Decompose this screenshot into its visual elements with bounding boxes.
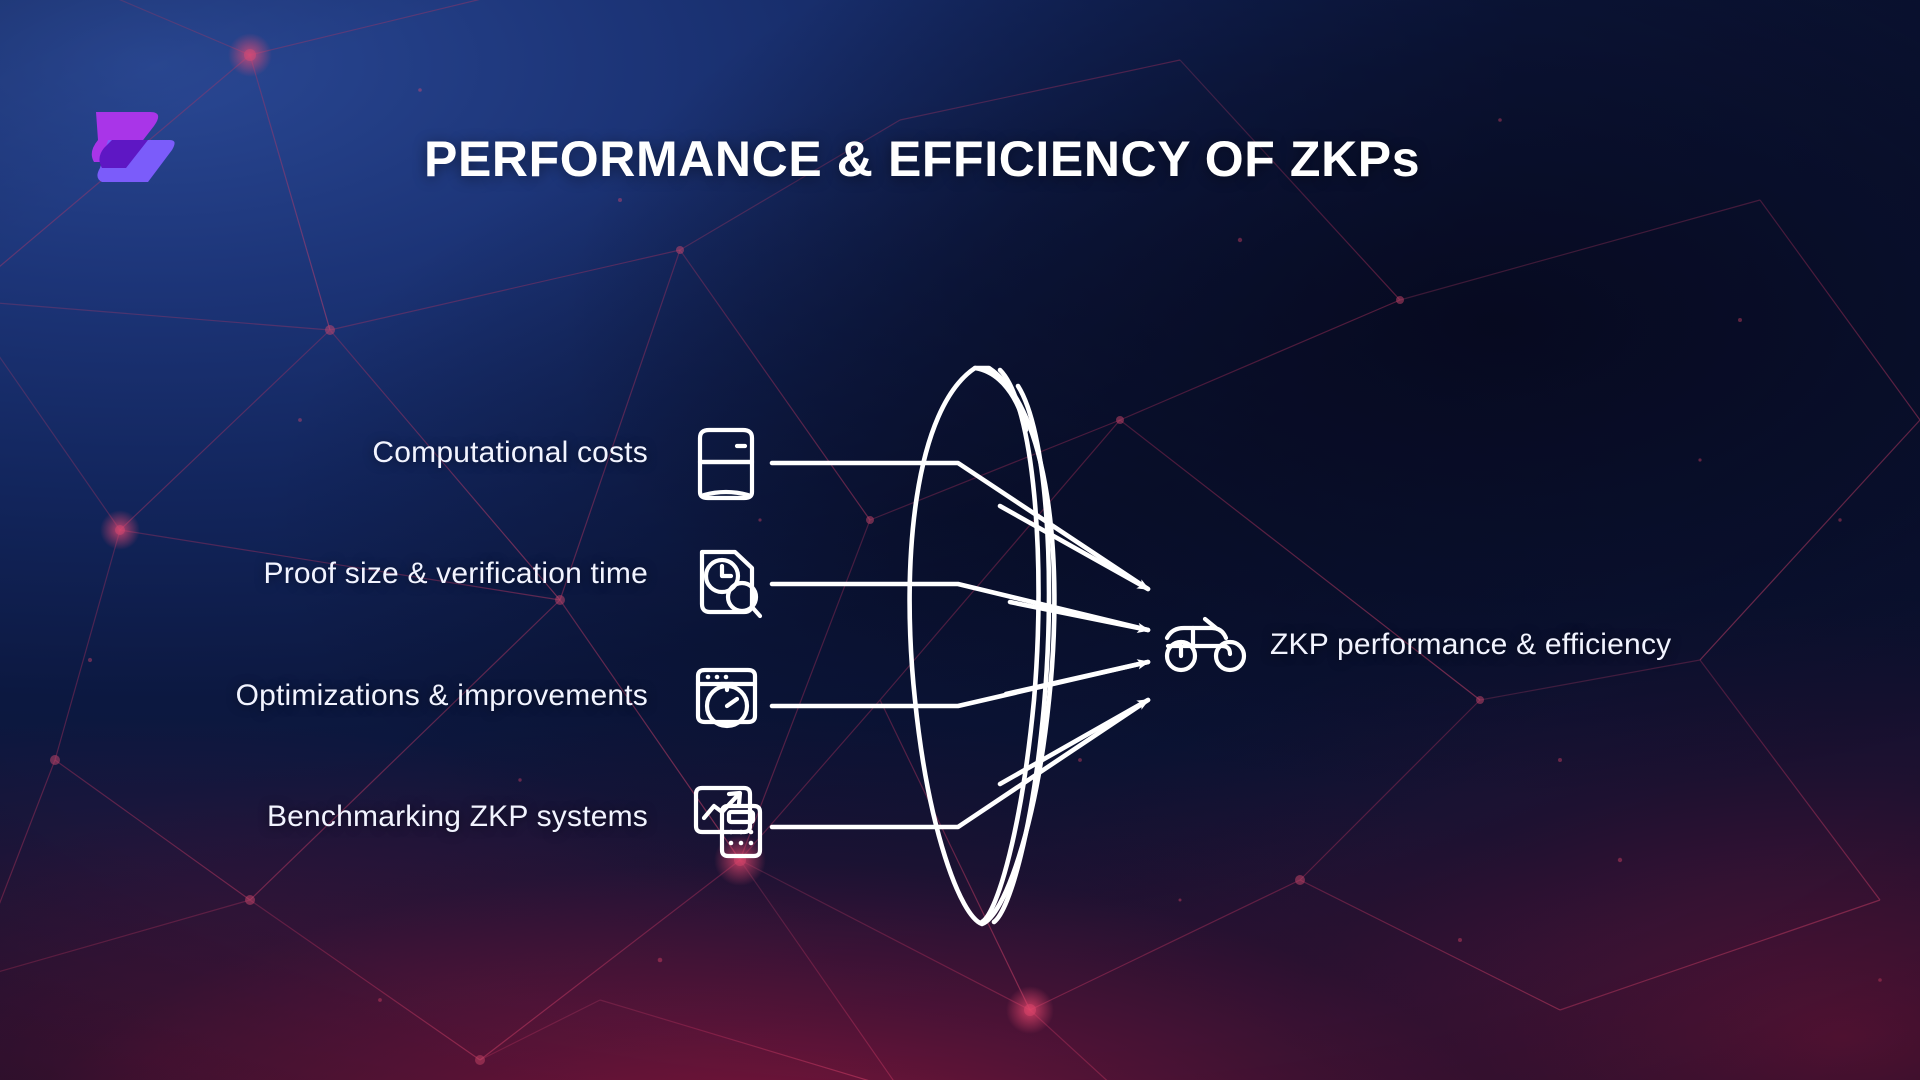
lens-shape-outer (910, 368, 1055, 924)
motorcycle-icon (1167, 619, 1244, 670)
input-label-computational-costs: Computational costs (0, 436, 648, 470)
input-label-benchmarking-zkp-systems: Benchmarking ZKP systems (0, 800, 648, 834)
connector-line-3 (772, 662, 1148, 706)
lens-shape-inner (975, 368, 1039, 922)
output-label-zkp-performance-efficiency: ZKP performance & efficiency (1270, 628, 1671, 662)
convergence-diagram (0, 0, 1920, 1080)
slide-canvas: PERFORMANCE & EFFICIENCY OF ZKPs (0, 0, 1920, 1080)
input-label-proof-size-verification-time: Proof size & verification time (0, 557, 648, 591)
connector-line-1 (772, 463, 1148, 589)
connector-line-2 (772, 584, 1148, 630)
connector-line-4 (772, 700, 1148, 827)
document-clock-search-icon (702, 552, 760, 616)
server-rack-icon (700, 430, 752, 498)
chart-calculator-icon (696, 788, 760, 856)
browser-stopwatch-icon (698, 670, 755, 726)
input-label-optimizations-improvements: Optimizations & improvements (0, 679, 648, 713)
